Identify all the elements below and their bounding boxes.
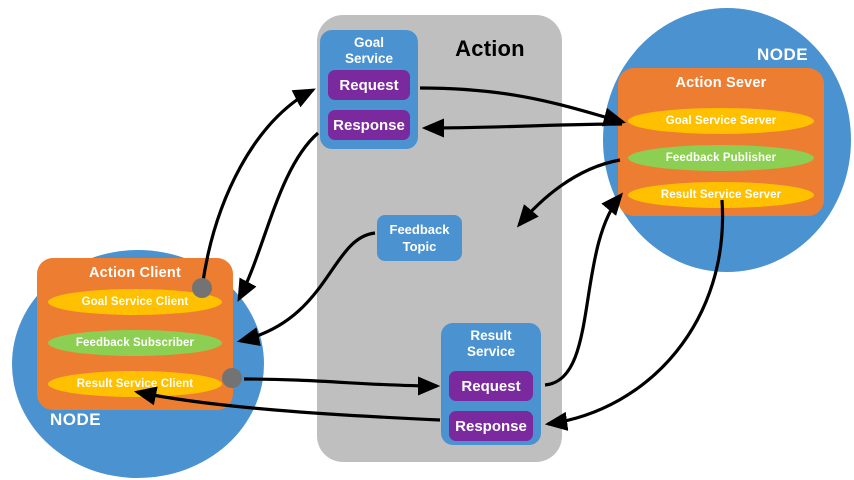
pill-result-service-server[interactable]: Result Service Server [628, 182, 814, 208]
pill-result-service-client[interactable]: Result Service Client [48, 371, 222, 397]
pill-feedback-subscriber[interactable]: Feedback Subscriber [48, 330, 222, 356]
pill-feedback-publisher[interactable]: Feedback Publisher [628, 145, 814, 171]
junction-dot-result-service-client [222, 368, 242, 388]
server-node-label: NODE [757, 45, 808, 65]
feedback-topic-line1: Feedback [390, 222, 450, 237]
arrow-response-to-goal-client [239, 133, 318, 299]
action-panel-title: Action [430, 36, 550, 62]
diagram-canvas: Action NODE NODE Action Client Goal Serv… [0, 0, 854, 480]
action-server-box: Action Sever Goal Service Server Feedbac… [618, 68, 824, 216]
result-service-title-line2: Service [467, 344, 515, 359]
junction-dot-goal-service-client [192, 278, 212, 298]
goal-service-title-line2: Service [345, 51, 393, 66]
pill-goal-service-server[interactable]: Goal Service Server [628, 108, 814, 134]
goal-service-title: Goal Service [320, 35, 418, 67]
result-service-box: Result Service Request Response [441, 323, 541, 445]
client-node-label: NODE [50, 410, 101, 430]
result-service-title: Result Service [441, 328, 541, 360]
feedback-topic-line2: Topic [403, 239, 437, 254]
goal-service-request-button[interactable]: Request [328, 70, 410, 100]
result-service-response-button[interactable]: Response [449, 411, 533, 441]
result-service-title-line1: Result [470, 328, 511, 343]
feedback-topic-label: Feedback Topic [390, 221, 450, 255]
feedback-topic-box[interactable]: Feedback Topic [377, 215, 462, 261]
goal-service-box: Goal Service Request Response [320, 30, 418, 149]
goal-service-response-button[interactable]: Response [328, 110, 410, 140]
goal-service-title-line1: Goal [354, 35, 384, 50]
action-server-title: Action Sever [618, 75, 824, 91]
result-service-request-button[interactable]: Request [449, 371, 533, 401]
